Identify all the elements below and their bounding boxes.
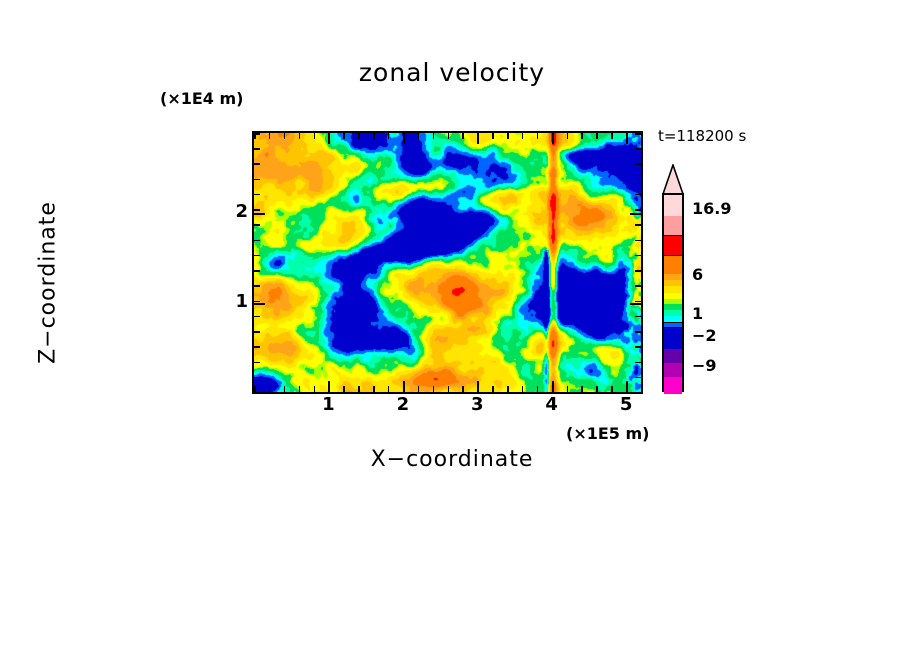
y-axis-minor-tick <box>254 316 260 318</box>
x-axis-minor-tick <box>462 386 464 392</box>
x-axis-minor-tick <box>596 133 598 139</box>
y-axis-minor-tick <box>254 255 260 257</box>
colorbar-band <box>664 377 682 394</box>
x-axis-minor-tick <box>284 133 286 139</box>
y-axis-minor-tick <box>635 285 641 287</box>
y-axis-major-tick <box>254 303 265 305</box>
x-axis-units-label: (×1E5 m) <box>566 424 649 443</box>
page-title: zonal velocity <box>0 58 904 87</box>
y-axis-minor-tick <box>635 133 641 135</box>
x-axis-minor-tick <box>448 133 450 139</box>
x-axis-minor-tick <box>373 386 375 392</box>
x-axis-tick-label: 3 <box>462 394 492 415</box>
x-axis-minor-tick <box>448 386 450 392</box>
x-axis-minor-tick <box>492 386 494 392</box>
colorbar-tick-label: 16.9 <box>692 199 731 218</box>
x-axis-minor-tick <box>567 133 569 139</box>
y-axis-minor-tick <box>635 179 641 181</box>
colorbar-band <box>664 216 682 235</box>
x-axis-minor-tick <box>418 133 420 139</box>
y-axis-major-tick <box>630 303 641 305</box>
colorbar-band <box>664 235 682 255</box>
x-axis-minor-tick <box>373 133 375 139</box>
y-axis-minor-tick <box>635 270 641 272</box>
y-axis-minor-tick <box>635 240 641 242</box>
x-axis-minor-tick <box>537 386 539 392</box>
y-axis-minor-tick <box>254 240 260 242</box>
x-axis-minor-tick <box>314 133 316 139</box>
x-axis-minor-tick <box>581 133 583 139</box>
y-axis-minor-tick <box>254 179 260 181</box>
y-axis-minor-tick <box>254 270 260 272</box>
y-axis-minor-tick <box>635 209 641 211</box>
colorbar-band <box>664 195 682 216</box>
x-axis-minor-tick <box>343 133 345 139</box>
colorbar-band <box>664 327 682 349</box>
x-axis-minor-tick <box>343 386 345 392</box>
x-axis-tick-label: 4 <box>537 394 567 415</box>
colorbar-bands <box>662 193 684 392</box>
x-axis-minor-tick <box>492 133 494 139</box>
x-axis-major-tick <box>403 133 405 144</box>
x-axis-minor-tick <box>388 386 390 392</box>
x-axis-minor-tick <box>507 133 509 139</box>
x-axis-minor-tick <box>269 133 271 139</box>
x-axis-minor-tick <box>358 386 360 392</box>
y-axis-minor-tick <box>635 346 641 348</box>
x-axis-tick-label: 5 <box>611 394 641 415</box>
y-axis-minor-tick <box>254 285 260 287</box>
x-axis-minor-tick <box>611 133 613 139</box>
x-axis-minor-tick <box>522 133 524 139</box>
y-axis-minor-tick <box>635 163 641 165</box>
x-axis-minor-tick <box>388 133 390 139</box>
y-axis-minor-tick <box>254 194 260 196</box>
x-axis-major-tick <box>477 381 479 392</box>
x-axis-major-tick <box>552 381 554 392</box>
y-axis-label: Z−coordinate <box>36 143 61 423</box>
x-axis-minor-tick <box>299 386 301 392</box>
x-axis-minor-tick <box>299 133 301 139</box>
x-axis-major-tick <box>477 133 479 144</box>
timestamp-label: t=118200 s <box>658 127 746 145</box>
x-axis-minor-tick <box>284 386 286 392</box>
colorbar-tick-label: 6 <box>692 265 703 284</box>
y-axis-minor-tick <box>635 224 641 226</box>
x-axis-major-tick <box>626 133 628 144</box>
x-axis-minor-tick <box>596 386 598 392</box>
x-axis-minor-tick <box>537 133 539 139</box>
y-axis-minor-tick <box>635 148 641 150</box>
y-axis-minor-tick <box>254 209 260 211</box>
x-axis-tick-label: 2 <box>388 394 418 415</box>
y-axis-major-tick <box>630 213 641 215</box>
y-axis-minor-tick <box>254 346 260 348</box>
y-axis-minor-tick <box>635 362 641 364</box>
y-axis-minor-tick <box>635 255 641 257</box>
colorbar-band <box>664 349 682 363</box>
y-axis-tick-label: 2 <box>224 201 248 222</box>
x-axis-label: X−coordinate <box>0 447 904 472</box>
x-axis-minor-tick <box>433 386 435 392</box>
x-axis-minor-tick <box>507 386 509 392</box>
x-axis-major-tick <box>626 381 628 392</box>
y-axis-minor-tick <box>254 148 260 150</box>
x-axis-major-tick <box>403 381 405 392</box>
colorbar-extend-arrow-icon <box>662 164 684 195</box>
x-axis-minor-tick <box>314 386 316 392</box>
y-axis-tick-label: 1 <box>224 291 248 312</box>
x-axis-major-tick <box>328 133 330 144</box>
x-axis-tick-label: 1 <box>313 394 343 415</box>
y-axis-minor-tick <box>635 316 641 318</box>
x-axis-minor-tick <box>269 386 271 392</box>
x-axis-minor-tick <box>418 386 420 392</box>
y-axis-minor-tick <box>254 392 260 394</box>
y-axis-minor-tick <box>635 194 641 196</box>
x-axis-minor-tick <box>581 386 583 392</box>
y-axis-minor-tick <box>254 362 260 364</box>
y-axis-minor-tick <box>254 331 260 333</box>
y-axis-minor-tick <box>254 163 260 165</box>
colorbar[interactable]: 16.961−2−9 <box>662 164 688 392</box>
y-axis-minor-tick <box>635 331 641 333</box>
y-axis-minor-tick <box>254 133 260 135</box>
x-axis-minor-tick <box>522 386 524 392</box>
contour-plot-panel[interactable] <box>252 131 643 394</box>
y-axis-minor-tick <box>635 392 641 394</box>
y-axis-units-label: (×1E4 m) <box>160 89 243 108</box>
x-axis-minor-tick <box>567 386 569 392</box>
x-axis-major-tick <box>552 133 554 144</box>
y-axis-minor-tick <box>254 224 260 226</box>
velocity-field-canvas <box>254 133 641 392</box>
y-axis-major-tick <box>254 213 265 215</box>
colorbar-tick-label: −2 <box>692 326 717 345</box>
x-axis-minor-tick <box>462 133 464 139</box>
x-axis-minor-tick <box>611 386 613 392</box>
colorbar-tick-label: −9 <box>692 356 717 375</box>
x-axis-minor-tick <box>433 133 435 139</box>
colorbar-tick-label: 1 <box>692 304 703 323</box>
x-axis-minor-tick <box>641 386 643 392</box>
colorbar-band <box>664 255 682 274</box>
x-axis-minor-tick <box>641 133 643 139</box>
colorbar-band <box>664 363 682 377</box>
x-axis-major-tick <box>328 381 330 392</box>
y-axis-minor-tick <box>254 377 260 379</box>
x-axis-minor-tick <box>358 133 360 139</box>
y-axis-minor-tick <box>635 377 641 379</box>
